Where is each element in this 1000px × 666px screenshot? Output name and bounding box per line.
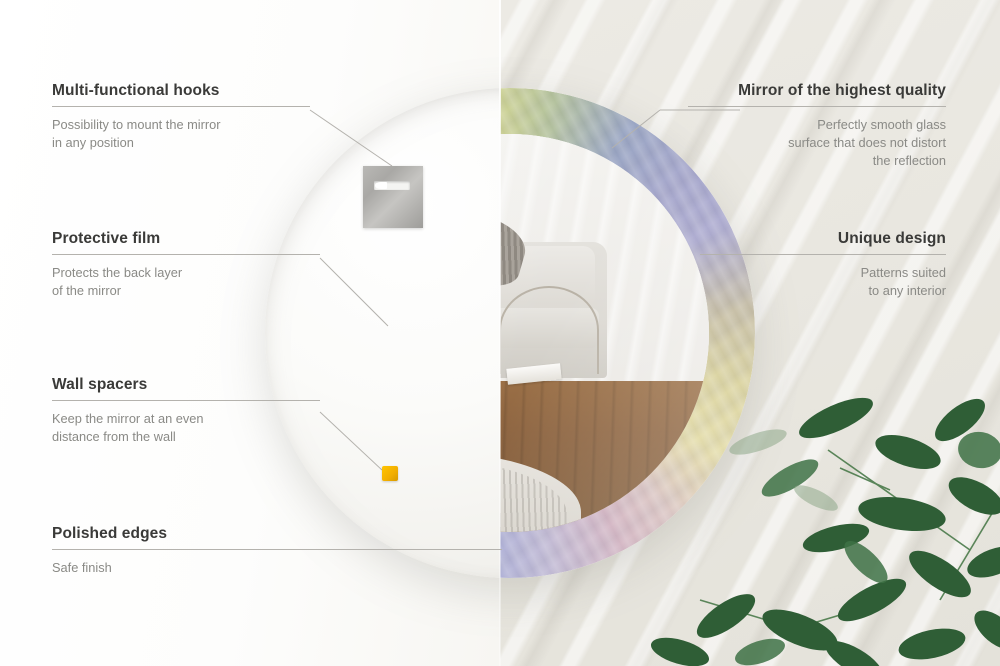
callout-rule: [688, 106, 946, 107]
callout-protective-film: Protective film Protects the back layer …: [52, 230, 320, 300]
callout-rule: [52, 400, 320, 401]
callout-unique-design: Unique design Patterns suited to any int…: [700, 230, 946, 300]
wall-spacer-marker: [382, 466, 398, 481]
callout-rule: [700, 254, 946, 255]
callout-description: Safe finish: [52, 559, 502, 577]
infographic-canvas: Multi-functional hooks Possibility to mo…: [0, 0, 1000, 666]
callout-description: Patterns suited to any interior: [700, 264, 946, 300]
callout-title: Polished edges: [52, 525, 502, 543]
callout-wall-spacers: Wall spacers Keep the mirror at an even …: [52, 376, 320, 446]
callout-description: Protects the back layer of the mirror: [52, 264, 320, 300]
callout-mirror-of-the-highest-quality: Mirror of the highest quality Perfectly …: [688, 82, 946, 170]
callout-multi-functional-hooks: Multi-functional hooks Possibility to mo…: [52, 82, 310, 152]
callout-description: Perfectly smooth glass surface that does…: [688, 116, 946, 170]
callout-title: Unique design: [700, 230, 946, 248]
callout-rule: [52, 106, 310, 107]
hook-keyhole-slot: [374, 181, 410, 190]
callout-rule: [52, 254, 320, 255]
reflection-floor-lamp: [499, 286, 599, 374]
callout-rule: [52, 549, 502, 550]
callout-description: Keep the mirror at an even distance from…: [52, 410, 320, 446]
callout-title: Protective film: [52, 230, 320, 248]
hook-plate-marker: [363, 166, 423, 228]
eucalyptus-foliage: [640, 300, 1000, 666]
callout-title: Multi-functional hooks: [52, 82, 310, 100]
callout-title: Mirror of the highest quality: [688, 82, 946, 100]
callout-description: Possibility to mount the mirror in any p…: [52, 116, 310, 152]
callout-polished-edges: Polished edges Safe finish: [52, 525, 502, 577]
callout-title: Wall spacers: [52, 376, 320, 394]
